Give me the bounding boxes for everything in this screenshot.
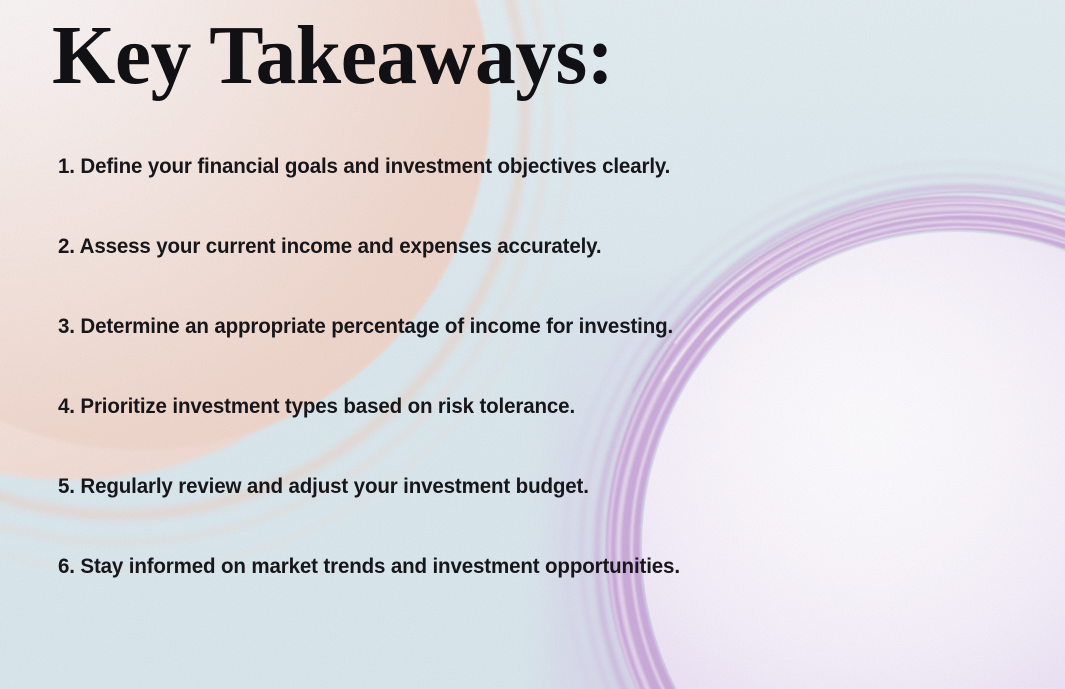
list-item: 4. Prioritize investment types based on … [58, 396, 937, 476]
list-item: 5. Regularly review and adjust your inve… [58, 476, 937, 556]
list-item: 1. Define your financial goals and inves… [58, 156, 937, 236]
slide-content: Key Takeaways: 1. Define your financial … [0, 0, 1065, 689]
list-item: 2. Assess your current income and expens… [58, 236, 937, 316]
list-item: 3. Determine an appropriate percentage o… [58, 316, 937, 396]
list-item: 6. Stay informed on market trends and in… [58, 556, 937, 636]
takeaways-list: 1. Define your financial goals and inves… [58, 156, 978, 636]
slide-canvas: Key Takeaways: 1. Define your financial … [0, 0, 1065, 689]
page-title: Key Takeaways: [52, 14, 613, 98]
